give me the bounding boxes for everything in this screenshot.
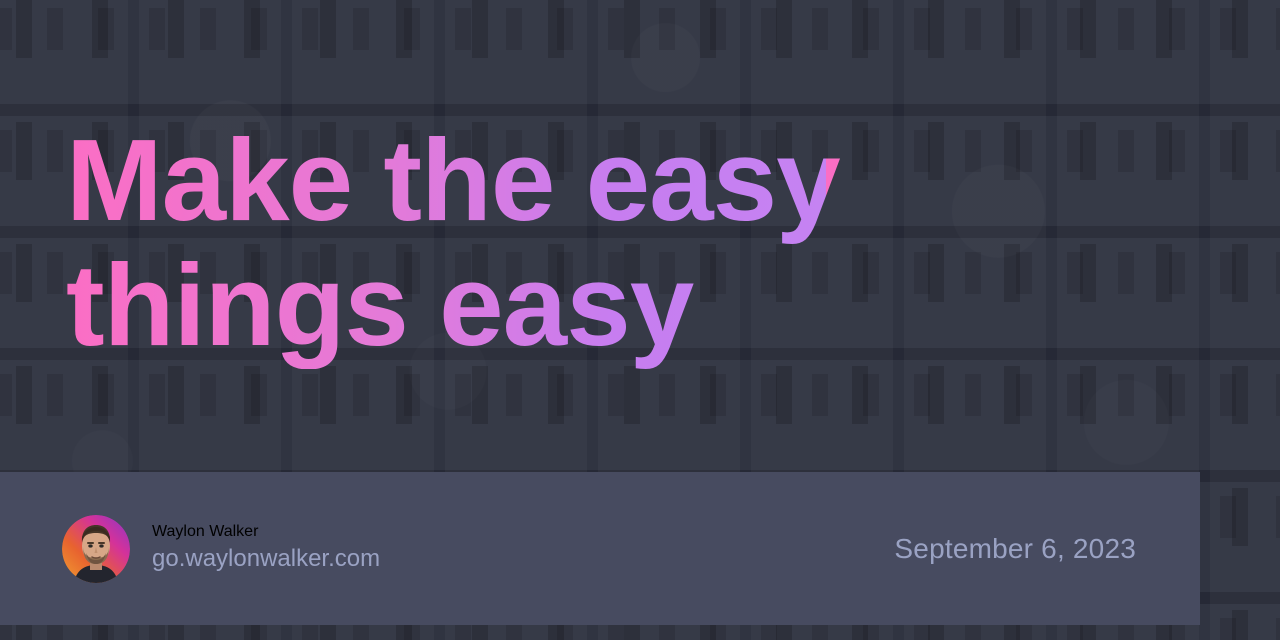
- social-share-card: Make the easy things easy: [0, 0, 1280, 640]
- author-text: Waylon Walker go.waylonwalker.com: [152, 523, 380, 574]
- author-block[interactable]: Waylon Walker go.waylonwalker.com: [62, 515, 380, 583]
- author-url[interactable]: go.waylonwalker.com: [152, 543, 380, 574]
- footer-bar: Waylon Walker go.waylonwalker.com Septem…: [0, 472, 1200, 625]
- author-name: Waylon Walker: [152, 523, 380, 541]
- post-date: September 6, 2023: [894, 533, 1136, 565]
- page-title: Make the easy things easy: [66, 118, 1106, 369]
- avatar[interactable]: [62, 515, 130, 583]
